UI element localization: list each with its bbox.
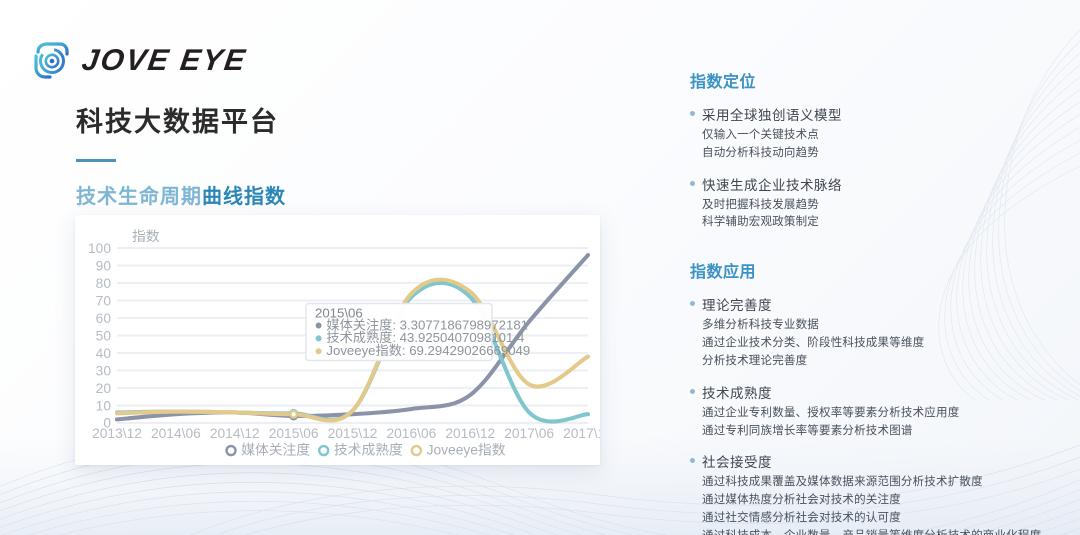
bullet-sub-line: 仅输入一个关键技术点 — [702, 127, 1060, 145]
bullet-sub-line: 通过媒体热度分析社会对技术的关注度 — [702, 492, 1060, 510]
bullet-row: 快速生成企业技术脉络 — [690, 174, 1060, 194]
bullet-row: 采用全球独创语义模型 — [690, 104, 1060, 124]
lifecycle-curve-chart[interactable]: 0102030405060708090100 2013\122014\06201… — [75, 215, 600, 465]
right-panel: 指数定位 采用全球独创语义模型仅输入一个关键技术点自动分析科技动向趋势快速生成企… — [690, 68, 1060, 535]
bullet-group: 快速生成企业技术脉络及时把握科技发展趋势科学辅助宏观政策制定 — [690, 174, 1060, 233]
bullet-sub-line: 通过专利同族增长率等要素分析技术图谱 — [702, 423, 1060, 441]
bullet-sub-lines: 通过科技成果覆盖及媒体数据来源范围分析技术扩散度通过媒体热度分析社会对技术的关注… — [702, 474, 1060, 535]
tooltip-swatch-0 — [316, 322, 322, 328]
y-tick-label: 80 — [96, 276, 112, 291]
panel-heading: 指数定位 — [690, 68, 1060, 92]
section-title-plain: 技术生命周期 — [76, 186, 202, 208]
bullet-dot-icon — [690, 389, 695, 394]
slide-canvas: JOVE EYE 科技大数据平台 技术生命周期曲线指数 010203040506… — [0, 0, 1080, 535]
y-tick-label: 20 — [96, 381, 112, 396]
panel-heading: 指数应用 — [690, 258, 1060, 282]
bullet-lead-text: 技术成熟度 — [702, 382, 772, 402]
bullet-row: 技术成熟度 — [690, 382, 1060, 402]
header: JOVE EYE 科技大数据平台 技术生命周期曲线指数 — [30, 40, 450, 209]
x-tick-label: 2015\12 — [328, 426, 378, 441]
chart-x-tick-labels: 2013\122014\062014\122015\062015\122016\… — [92, 426, 600, 441]
eye-aperture-icon — [30, 40, 72, 82]
tooltip-swatch-1 — [316, 335, 322, 341]
bullet-row: 理论完善度 — [690, 294, 1060, 314]
bullet-group: 技术成熟度通过企业专利数量、授权率等要素分析技术应用度通过专利同族增长率等要素分… — [690, 382, 1060, 441]
y-tick-label: 60 — [96, 311, 112, 326]
bullet-sub-line: 通过企业专利数量、授权率等要素分析技术应用度 — [702, 405, 1060, 423]
x-tick-label: 2014\12 — [210, 426, 260, 441]
bullet-sub-line: 及时把握科技发展趋势 — [702, 197, 1060, 215]
bullet-sub-line: 通过企业技术分类、阶段性科技成果等维度 — [702, 335, 1060, 353]
chart-card[interactable]: 0102030405060708090100 2013\122014\06201… — [75, 215, 600, 465]
tooltip-swatch-2 — [316, 348, 322, 354]
y-tick-label: 40 — [96, 346, 112, 361]
legend-marker-0[interactable] — [227, 446, 236, 455]
bullet-group: 采用全球独创语义模型仅输入一个关键技术点自动分析科技动向趋势 — [690, 104, 1060, 163]
y-tick-label: 70 — [96, 293, 112, 308]
legend-marker-2[interactable] — [412, 446, 421, 455]
bullet-sub-line: 多维分析科技专业数据 — [702, 317, 1060, 335]
bullet-lead-text: 采用全球独创语义模型 — [702, 104, 842, 124]
brand-wordmark: JOVE EYE — [80, 44, 249, 78]
panel-bullet-groups: 采用全球独创语义模型仅输入一个关键技术点自动分析科技动向趋势快速生成企业技术脉络… — [690, 104, 1060, 232]
bullet-dot-icon — [690, 458, 695, 463]
bullet-sub-line: 科学辅助宏观政策制定 — [702, 214, 1060, 232]
x-tick-label: 2017\06 — [504, 426, 554, 441]
panel-index-application: 指数应用 理论完善度多维分析科技专业数据通过企业技术分类、阶段性科技成果等维度分… — [690, 258, 1060, 535]
x-tick-label: 2015\06 — [269, 426, 319, 441]
bullet-dot-icon — [690, 111, 695, 116]
x-tick-label: 2017\12 — [563, 426, 600, 441]
logo-row: JOVE EYE — [30, 40, 450, 82]
legend-label-2[interactable]: Joveeye指数 — [427, 443, 506, 458]
chart-y-tick-labels: 0102030405060708090100 — [88, 241, 111, 431]
chart-tooltip: 2015\06媒体关注度: 3.3077186798972181技术成熟度: 4… — [306, 304, 530, 361]
x-tick-label: 2014\06 — [151, 426, 201, 441]
bullet-lead-text: 快速生成企业技术脉络 — [702, 174, 842, 194]
bullet-row: 社会接受度 — [690, 451, 1060, 471]
title-divider — [76, 159, 116, 162]
series-point-2 — [290, 411, 297, 418]
y-tick-label: 30 — [96, 363, 112, 378]
bullet-sub-line: 分析技术理论完善度 — [702, 353, 1060, 371]
bullet-sub-lines: 仅输入一个关键技术点自动分析科技动向趋势 — [702, 127, 1060, 163]
bullet-lead-text: 社会接受度 — [702, 451, 772, 471]
panel-index-positioning: 指数定位 采用全球独创语义模型仅输入一个关键技术点自动分析科技动向趋势快速生成企… — [690, 68, 1060, 232]
bullet-sub-lines: 多维分析科技专业数据通过企业技术分类、阶段性科技成果等维度分析技术理论完善度 — [702, 317, 1060, 370]
bullet-sub-lines: 通过企业专利数量、授权率等要素分析技术应用度通过专利同族增长率等要素分析技术图谱 — [702, 405, 1060, 441]
y-tick-label: 10 — [96, 398, 112, 413]
bullet-lead-text: 理论完善度 — [702, 294, 772, 314]
bullet-sub-lines: 及时把握科技发展趋势科学辅助宏观政策制定 — [702, 197, 1060, 233]
bullet-group: 社会接受度通过科技成果覆盖及媒体数据来源范围分析技术扩散度通过媒体热度分析社会对… — [690, 451, 1060, 535]
tooltip-row-2: Joveeye指数: 69.29429026669049 — [326, 343, 530, 358]
bullet-sub-line: 通过科技成本、企业数量、产品销量等维度分析技术的商业化程度 — [702, 528, 1060, 535]
legend-label-0[interactable]: 媒体关注度 — [241, 443, 310, 458]
chart-legend[interactable]: 媒体关注度技术成熟度Joveeye指数 — [227, 443, 506, 458]
panel-bullet-groups: 理论完善度多维分析科技专业数据通过企业技术分类、阶段性科技成果等维度分析技术理论… — [690, 294, 1060, 535]
section-title-accent: 曲线指数 — [202, 186, 286, 208]
y-tick-label: 50 — [96, 328, 112, 343]
chart-y-axis-title: 指数 — [132, 229, 160, 244]
x-tick-label: 2013\12 — [92, 426, 142, 441]
section-title: 技术生命周期曲线指数 — [76, 180, 450, 209]
bullet-group: 理论完善度多维分析科技专业数据通过企业技术分类、阶段性科技成果等维度分析技术理论… — [690, 294, 1060, 370]
bullet-sub-line: 通过社交情感分析社会对技术的认可度 — [702, 510, 1060, 528]
legend-marker-1[interactable] — [319, 446, 328, 455]
bullet-sub-line: 通过科技成果覆盖及媒体数据来源范围分析技术扩散度 — [702, 474, 1060, 492]
bullet-dot-icon — [690, 301, 695, 306]
bullet-sub-line: 自动分析科技动向趋势 — [702, 145, 1060, 163]
y-tick-label: 100 — [88, 241, 111, 256]
page-title: 科技大数据平台 — [76, 100, 450, 139]
legend-label-1[interactable]: 技术成熟度 — [334, 443, 403, 458]
x-tick-label: 2016\06 — [386, 426, 436, 441]
x-tick-label: 2016\12 — [445, 426, 495, 441]
y-tick-label: 90 — [96, 258, 112, 273]
bullet-dot-icon — [690, 181, 695, 186]
